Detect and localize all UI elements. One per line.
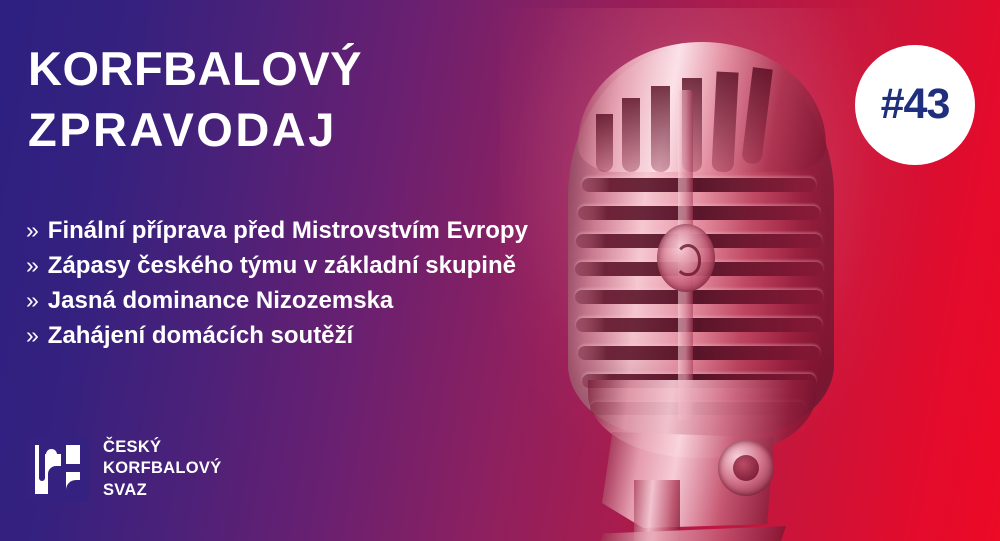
list-item: » Jasná dominance Nizozemska (26, 283, 606, 318)
issue-number-label: #43 (881, 80, 950, 129)
issue-number-badge: #43 (855, 45, 975, 165)
logo-notch (80, 438, 89, 501)
organization-name-line-3: SVAZ (103, 480, 222, 501)
microphone-emblem (657, 224, 715, 292)
guillemet-icon: » (26, 249, 39, 283)
list-item-label: Jasná dominance Nizozemska (48, 283, 393, 318)
logo-head-dot-cut (66, 452, 77, 463)
microphone-grille-slat (578, 346, 820, 360)
microphone-grille-slat (578, 206, 820, 220)
guillemet-icon: » (26, 214, 39, 248)
microphone-fin (651, 86, 670, 172)
guillemet-icon: » (26, 284, 39, 318)
korfball-federation-mark-icon (26, 438, 89, 501)
organization-name-line-1: ČESKÝ (103, 437, 222, 458)
guillemet-icon: » (26, 319, 39, 353)
microphone-dome (578, 42, 826, 172)
list-item-label: Finální příprava před Mistrovstvím Evrop… (48, 213, 528, 248)
page-title-line-1: KORFBALOVÝ (28, 38, 588, 99)
microphone-fin (596, 114, 613, 172)
logo-figure-gap (48, 466, 62, 494)
logo-notch (26, 438, 35, 501)
list-item: » Zápasy českého týmu v základní skupině (26, 248, 606, 283)
logo-figure-gap (66, 480, 80, 494)
page-title-line-2: ZPRAVODAJ (28, 99, 588, 160)
logo-head-dot-cut (46, 449, 57, 460)
organization-logo: ČESKÝ KORFBALOVÝ SVAZ (26, 437, 222, 501)
microphone-grille-slat (576, 318, 822, 332)
microphone-base (596, 526, 786, 541)
organization-name-line-2: KORFBALOVÝ (103, 458, 222, 479)
microphone-grille-slat (582, 178, 816, 192)
logo-figure-gap (66, 464, 80, 472)
list-item: » Finální příprava před Mistrovstvím Evr… (26, 213, 606, 248)
korfball-newsletter-banner: KORFBALOVÝ ZPRAVODAJ #43 » Finální přípr… (0, 0, 1000, 541)
list-item-label: Zahájení domácích soutěží (48, 318, 353, 353)
list-item: » Zahájení domácích soutěží (26, 318, 606, 353)
topics-list: » Finální příprava před Mistrovstvím Evr… (26, 213, 606, 353)
microphone-fin (622, 98, 640, 172)
organization-name: ČESKÝ KORFBALOVÝ SVAZ (103, 437, 222, 501)
list-item-label: Zápasy českého týmu v základní skupině (48, 248, 516, 283)
microphone-grille-slat (575, 290, 823, 304)
microphone-tension-knob (718, 440, 774, 496)
page-title: KORFBALOVÝ ZPRAVODAJ (28, 38, 588, 160)
